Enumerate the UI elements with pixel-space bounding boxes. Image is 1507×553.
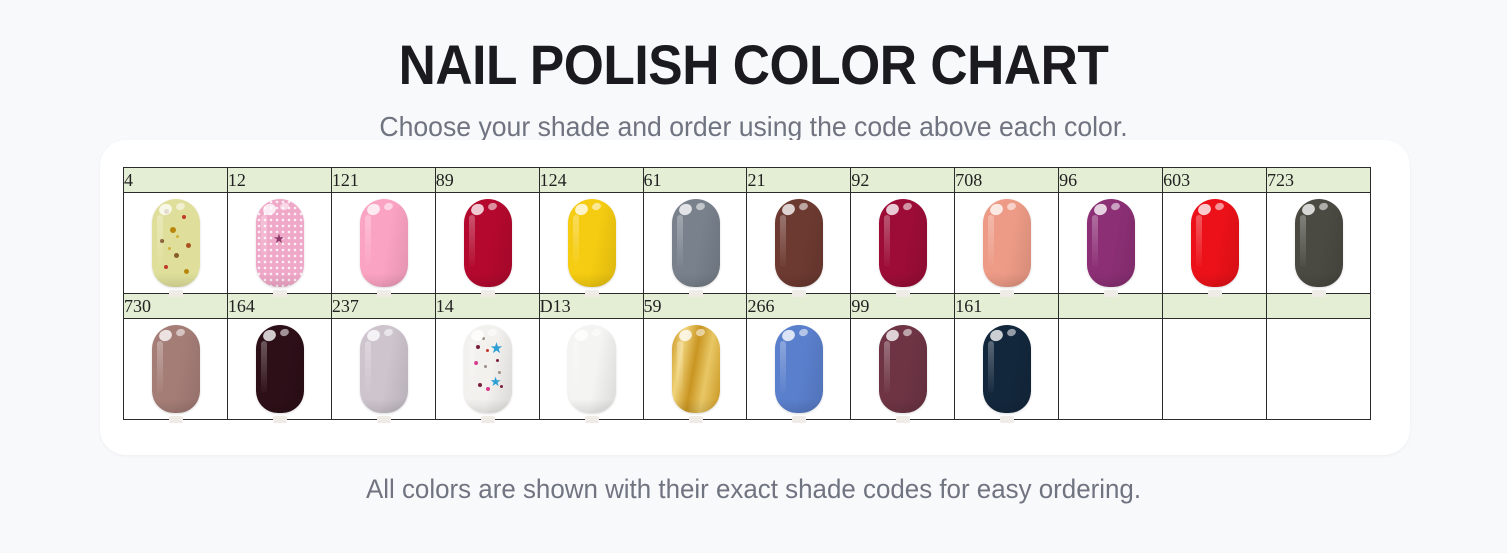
tip-shadow — [568, 273, 616, 287]
gloss-highlight-small-icon — [383, 328, 394, 337]
gloss-highlight-small-icon — [591, 202, 602, 211]
nail-art-dot — [498, 371, 501, 374]
tip-shadow — [568, 399, 616, 413]
tip-shadow — [983, 399, 1031, 413]
tip-shadow — [775, 273, 823, 287]
nail-stem — [377, 290, 391, 297]
nail-stem — [689, 290, 703, 297]
gloss-side-streak-icon — [1092, 215, 1098, 267]
nail-art-dot — [474, 361, 478, 365]
nail-holder — [228, 319, 332, 419]
nail-stem — [896, 290, 910, 297]
color-chart-body: 4121218912461219270896603723★73016423714… — [124, 168, 1371, 420]
nail-stem — [1312, 290, 1326, 297]
swatch-cell[interactable] — [539, 319, 643, 420]
gloss-highlight-small-icon — [175, 328, 186, 337]
swatch-cell-empty — [1059, 319, 1163, 420]
shade-code-cell-empty — [1163, 294, 1267, 319]
gloss-side-streak-icon — [677, 215, 683, 267]
nail-swatch[interactable]: ★ — [256, 199, 304, 287]
nail-holder: ★★ — [436, 319, 540, 419]
gloss-highlight-icon — [573, 328, 589, 343]
nail-holder: ★ — [228, 193, 332, 293]
gloss-highlight-icon — [989, 328, 1005, 343]
glitter-speck — [170, 227, 176, 233]
gloss-side-streak-icon — [780, 215, 786, 267]
shade-code-cell-empty — [1059, 294, 1163, 319]
nail-holder — [747, 193, 851, 293]
swatch-cell[interactable] — [851, 193, 955, 294]
nail-swatch[interactable]: ★★ — [464, 325, 512, 413]
swatch-cell[interactable] — [1266, 193, 1370, 294]
shade-code-cell[interactable]: 121 — [331, 168, 435, 193]
nail-swatch[interactable] — [775, 199, 823, 287]
nail-stem — [1000, 416, 1014, 423]
swatch-cell[interactable] — [1059, 193, 1163, 294]
nail-art-dot — [486, 387, 490, 391]
nail-art-dot — [478, 383, 482, 387]
nail-art-dot — [486, 349, 489, 352]
nail-swatch[interactable] — [464, 199, 512, 287]
chart-page: NAIL POLISH COLOR CHART Choose your shad… — [0, 0, 1507, 553]
nail-holder — [851, 319, 955, 419]
nail-art-dot — [500, 385, 503, 388]
gloss-side-streak-icon — [573, 215, 579, 267]
gloss-side-streak-icon — [884, 341, 890, 393]
gloss-highlight-small-icon — [799, 328, 810, 337]
tip-shadow — [464, 273, 512, 287]
nail-stem — [169, 416, 183, 423]
gloss-highlight-icon — [885, 328, 901, 343]
swatch-cell[interactable] — [124, 193, 228, 294]
nail-stem — [689, 416, 703, 423]
gloss-highlight-icon — [261, 328, 277, 343]
gloss-highlight-small-icon — [487, 328, 498, 337]
nail-stem — [585, 416, 599, 423]
nail-holder — [955, 319, 1059, 419]
tip-shadow — [879, 273, 927, 287]
nail-swatch[interactable] — [672, 199, 720, 287]
glitter-speck — [176, 235, 179, 238]
tip-shadow — [775, 399, 823, 413]
gloss-side-streak-icon — [157, 341, 163, 393]
shade-code-cell[interactable]: 59 — [643, 294, 747, 319]
swatch-cell[interactable] — [331, 319, 435, 420]
gloss-highlight-small-icon — [1318, 202, 1329, 211]
gloss-side-streak-icon — [365, 215, 371, 267]
nail-holder — [1059, 319, 1163, 419]
swatch-cell[interactable] — [747, 193, 851, 294]
tip-shadow — [672, 399, 720, 413]
swatch-cell[interactable] — [124, 319, 228, 420]
color-chart-table: 4121218912461219270896603723★73016423714… — [123, 167, 1371, 420]
shade-code-cell[interactable]: 266 — [747, 294, 851, 319]
nail-swatch[interactable] — [672, 325, 720, 413]
nail-stem — [1000, 290, 1014, 297]
nail-swatch[interactable] — [256, 325, 304, 413]
tip-shadow — [360, 273, 408, 287]
nail-holder — [332, 319, 436, 419]
shade-code-cell[interactable]: 603 — [1163, 168, 1267, 193]
tip-shadow — [360, 399, 408, 413]
glitter-speck — [182, 215, 186, 219]
swatch-cell[interactable] — [435, 193, 539, 294]
glitter-speck — [184, 269, 189, 274]
code-row: 4121218912461219270896603723 — [124, 168, 1371, 193]
gloss-highlight-small-icon — [902, 202, 913, 211]
gloss-highlight-small-icon — [279, 328, 290, 337]
nail-holder — [1267, 319, 1371, 419]
nail-swatch[interactable] — [1295, 199, 1343, 287]
gloss-highlight-icon — [1196, 202, 1212, 217]
nail-stem — [273, 290, 287, 297]
nail-swatch[interactable] — [879, 325, 927, 413]
shade-code-cell[interactable]: 14 — [435, 294, 539, 319]
gloss-highlight-icon — [365, 202, 381, 217]
gloss-side-streak-icon — [261, 341, 267, 393]
nail-holder — [124, 319, 228, 419]
nail-stem — [481, 416, 495, 423]
nail-holder — [540, 319, 644, 419]
nail-holder — [1267, 193, 1371, 293]
glitter-speck — [186, 243, 191, 248]
gloss-side-streak-icon — [1300, 215, 1306, 267]
gloss-highlight-icon — [469, 328, 485, 343]
tip-shadow — [1087, 273, 1135, 287]
nail-holder — [747, 319, 851, 419]
tip-shadow — [879, 399, 927, 413]
shade-code-cell[interactable]: 89 — [435, 168, 539, 193]
nail-swatch[interactable] — [152, 199, 200, 287]
swatch-cell[interactable] — [539, 193, 643, 294]
swatch-cell-empty — [1266, 319, 1370, 420]
gloss-highlight-small-icon — [1110, 202, 1121, 211]
shade-code-cell[interactable]: 161 — [955, 294, 1059, 319]
gloss-highlight-small-icon — [799, 202, 810, 211]
tip-shadow — [983, 273, 1031, 287]
glitter-speck — [174, 253, 179, 258]
shade-code-cell[interactable]: 61 — [643, 168, 747, 193]
nail-swatch[interactable] — [568, 325, 616, 413]
gloss-highlight-small-icon — [902, 328, 913, 337]
gloss-highlight-icon — [1300, 202, 1316, 217]
tip-shadow — [1191, 273, 1239, 287]
shade-code-cell[interactable]: 4 — [124, 168, 228, 193]
gloss-highlight-icon — [1093, 202, 1109, 217]
nail-swatch[interactable] — [1191, 199, 1239, 287]
shade-code-cell[interactable]: 708 — [955, 168, 1059, 193]
gloss-side-streak-icon — [1196, 215, 1202, 267]
shade-code-cell[interactable]: 164 — [227, 294, 331, 319]
gloss-highlight-icon — [469, 202, 485, 217]
gloss-highlight-icon — [573, 202, 589, 217]
nail-holder — [332, 193, 436, 293]
nail-stem — [585, 290, 599, 297]
nail-swatch[interactable] — [983, 325, 1031, 413]
nail-stem — [377, 416, 391, 423]
shade-code-cell[interactable]: 237 — [331, 294, 435, 319]
gloss-highlight-icon — [677, 202, 693, 217]
swatch-cell[interactable] — [643, 319, 747, 420]
gloss-side-streak-icon — [988, 341, 994, 393]
tip-shadow — [464, 399, 512, 413]
gloss-side-streak-icon — [469, 215, 475, 267]
gloss-highlight-small-icon — [383, 202, 394, 211]
gloss-side-streak-icon — [988, 215, 994, 267]
gloss-highlight-small-icon — [1006, 202, 1017, 211]
gloss-side-streak-icon — [573, 341, 579, 393]
swatch-cell-empty — [1163, 319, 1267, 420]
swatch-row: ★ — [124, 193, 1371, 294]
nail-swatch[interactable] — [983, 199, 1031, 287]
tip-shadow — [256, 399, 304, 413]
swatch-cell[interactable] — [227, 319, 331, 420]
nail-swatch[interactable] — [360, 325, 408, 413]
gloss-side-streak-icon — [365, 341, 371, 393]
nail-art-dot — [482, 337, 485, 340]
nail-stem — [792, 290, 806, 297]
shade-code-cell[interactable]: 723 — [1266, 168, 1370, 193]
nail-holder — [644, 319, 748, 419]
gloss-highlight-icon — [365, 328, 381, 343]
gloss-highlight-icon — [781, 328, 797, 343]
swatch-cell[interactable] — [851, 319, 955, 420]
tip-shadow — [152, 399, 200, 413]
nail-art-dot — [484, 365, 487, 368]
gloss-highlight-icon — [157, 328, 173, 343]
shade-code-cell[interactable]: 92 — [851, 168, 955, 193]
swatch-cell[interactable] — [331, 193, 435, 294]
page-subtitle: Choose your shade and order using the co… — [38, 110, 1470, 144]
nail-swatch[interactable] — [775, 325, 823, 413]
nail-holder — [540, 193, 644, 293]
color-chart-table-wrapper: 4121218912461219270896603723★73016423714… — [123, 167, 1371, 417]
nail-swatch[interactable] — [1087, 199, 1135, 287]
gloss-highlight-icon — [677, 328, 693, 343]
code-row: 73016423714D135926699161 — [124, 294, 1371, 319]
glitter-star: ★ — [273, 233, 285, 245]
nail-holder — [1059, 193, 1163, 293]
nail-holder — [436, 193, 540, 293]
nail-swatch[interactable] — [568, 199, 616, 287]
shade-code-cell[interactable]: 99 — [851, 294, 955, 319]
nail-stem — [481, 290, 495, 297]
gloss-highlight-icon — [781, 202, 797, 217]
gloss-highlight-small-icon — [1006, 328, 1017, 337]
shade-code-cell[interactable]: 21 — [747, 168, 851, 193]
page-title: NAIL POLISH COLOR CHART — [60, 36, 1446, 94]
gloss-highlight-small-icon — [175, 202, 186, 211]
gloss-highlight-small-icon — [591, 328, 602, 337]
gloss-side-streak-icon — [469, 341, 475, 393]
nail-stem — [273, 416, 287, 423]
swatch-cell[interactable] — [955, 193, 1059, 294]
nail-swatch[interactable] — [879, 199, 927, 287]
swatch-cell[interactable] — [643, 193, 747, 294]
glitter-speck — [164, 209, 169, 214]
nail-holder — [124, 193, 228, 293]
shade-code-cell[interactable]: 124 — [539, 168, 643, 193]
footer-note: All colors are shown with their exact sh… — [30, 472, 1477, 506]
nail-stem — [169, 290, 183, 297]
swatch-cell[interactable] — [747, 319, 851, 420]
shade-code-cell[interactable]: D13 — [539, 294, 643, 319]
nail-stem — [896, 416, 910, 423]
nail-stem — [1208, 290, 1222, 297]
nail-holder — [1163, 319, 1267, 419]
swatch-cell[interactable] — [955, 319, 1059, 420]
gloss-highlight-small-icon — [1214, 202, 1225, 211]
swatch-cell[interactable]: ★★ — [435, 319, 539, 420]
shade-code-cell-empty — [1266, 294, 1370, 319]
glitter-speck — [160, 239, 164, 243]
shade-code-cell[interactable]: 730 — [124, 294, 228, 319]
gloss-highlight-icon — [885, 202, 901, 217]
nail-holder — [644, 193, 748, 293]
glitter-speck — [164, 265, 168, 269]
tip-shadow — [152, 273, 200, 287]
gloss-highlight-icon — [989, 202, 1005, 217]
gloss-side-streak-icon — [884, 215, 890, 267]
nail-holder — [851, 193, 955, 293]
nail-art-star: ★ — [490, 341, 503, 356]
gloss-highlight-small-icon — [695, 328, 706, 337]
swatch-cell[interactable]: ★ — [227, 193, 331, 294]
nail-art-dot — [496, 359, 499, 362]
nail-swatch[interactable] — [152, 325, 200, 413]
nail-holder — [955, 193, 1059, 293]
shade-code-cell[interactable]: 12 — [227, 168, 331, 193]
tip-shadow — [1295, 273, 1343, 287]
nail-swatch[interactable] — [360, 199, 408, 287]
nail-holder — [1163, 193, 1267, 293]
gloss-highlight-small-icon — [487, 202, 498, 211]
nail-art-dot — [476, 345, 480, 349]
nail-stem — [1104, 290, 1118, 297]
swatch-row: ★★ — [124, 319, 1371, 420]
glitter-speck — [168, 247, 171, 250]
swatch-cell[interactable] — [1163, 193, 1267, 294]
shade-code-cell[interactable]: 96 — [1059, 168, 1163, 193]
gloss-highlight-small-icon — [695, 202, 706, 211]
nail-stem — [792, 416, 806, 423]
gloss-side-streak-icon — [677, 341, 683, 393]
gloss-side-streak-icon — [780, 341, 786, 393]
tip-shadow — [672, 273, 720, 287]
